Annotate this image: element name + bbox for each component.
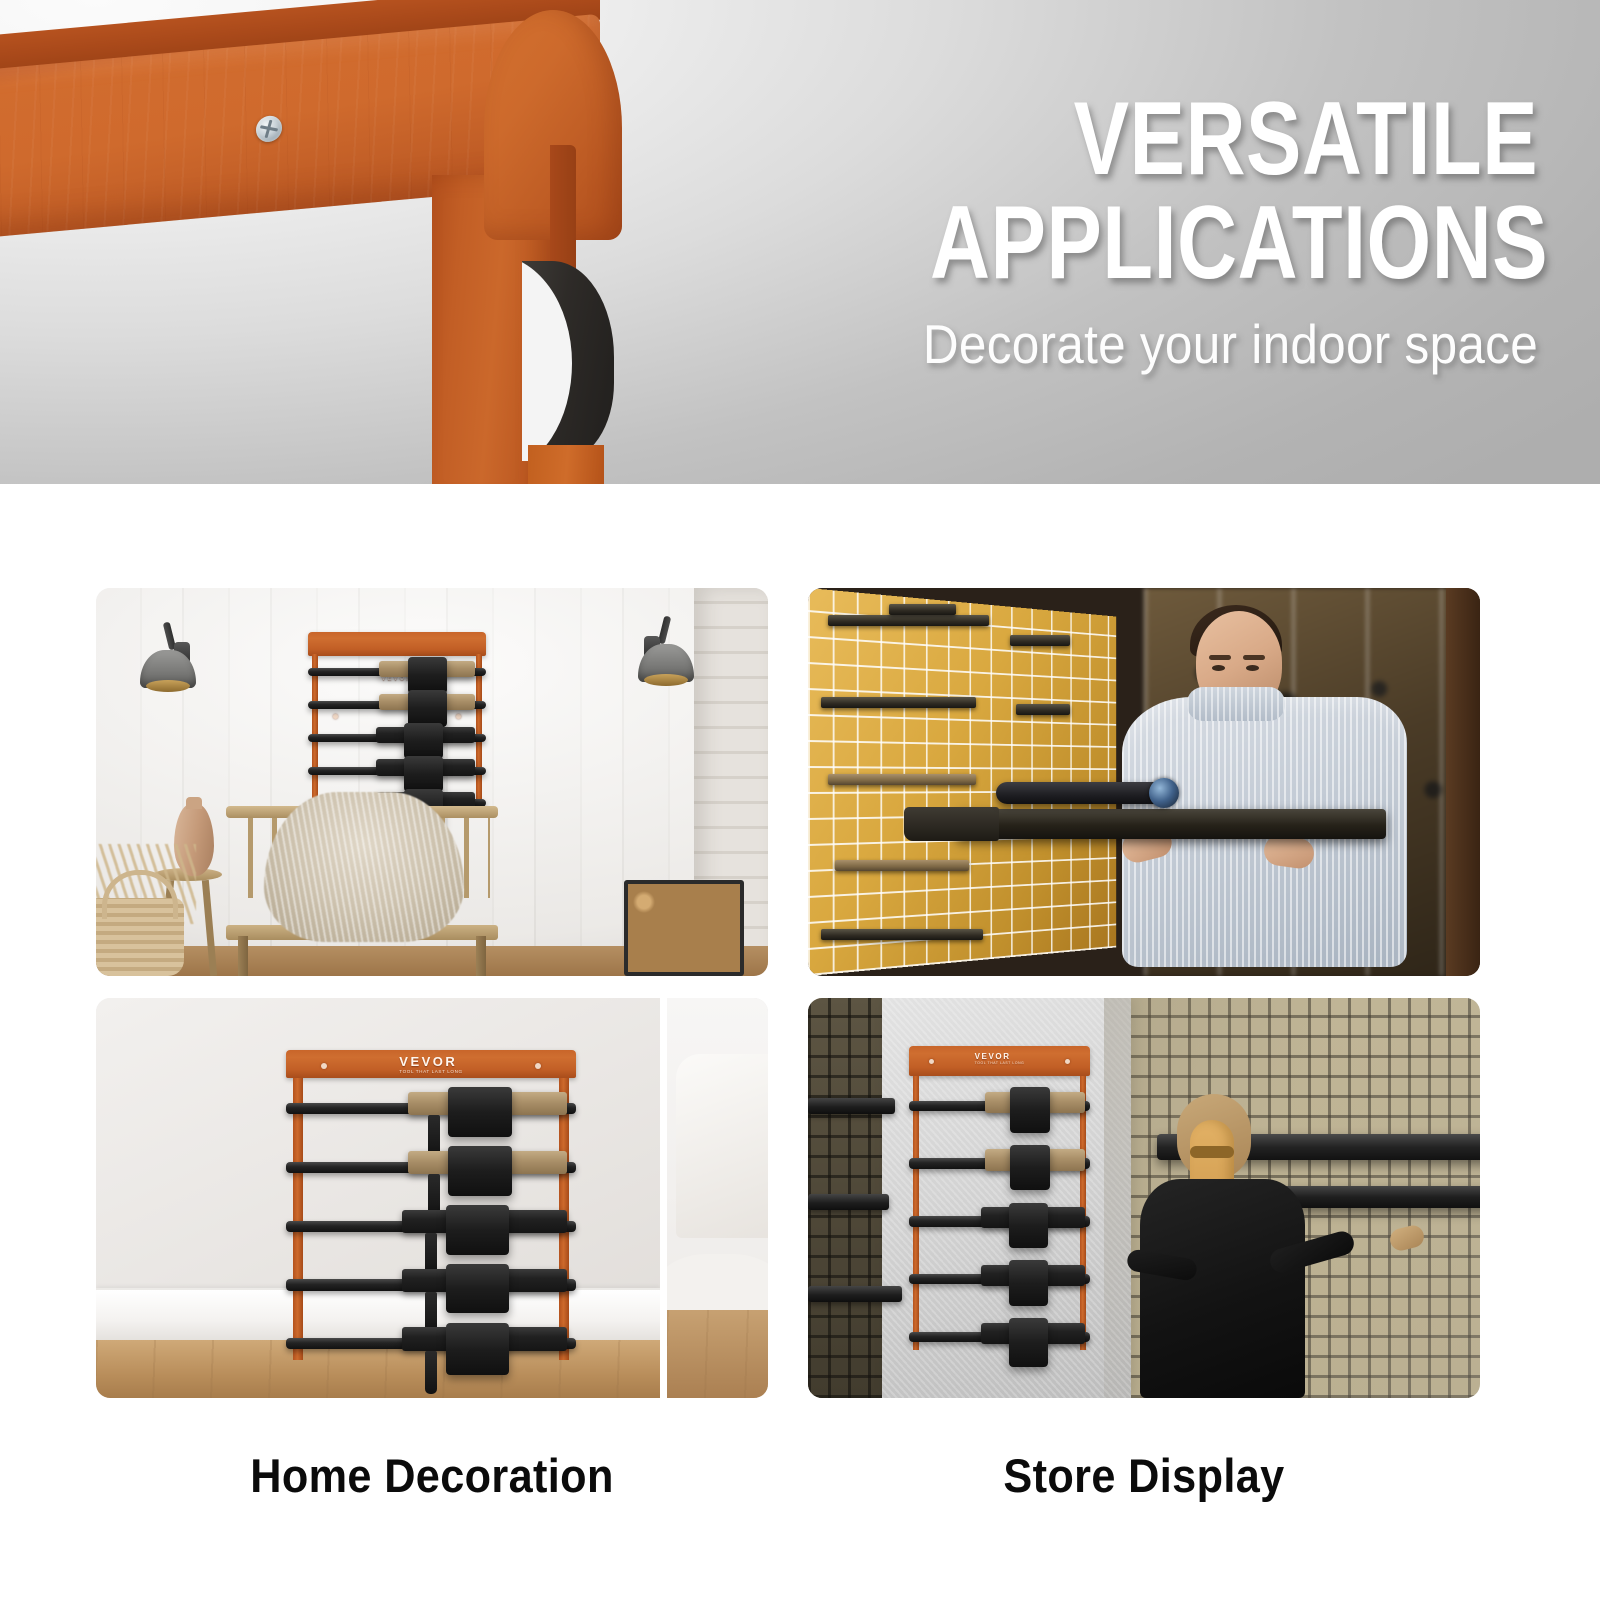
rack-side-post — [432, 175, 604, 484]
wall-rifle — [808, 1194, 889, 1210]
wall-sconce-left-icon — [140, 618, 196, 702]
rifle-receiver — [1009, 1260, 1049, 1306]
wall-rifle-tan — [835, 860, 969, 871]
store-pegboard-scene: VEVOR TOOL THAT LAST LONG — [808, 998, 1480, 1398]
headline-block: VERSATILE APPLICATIONS Decorate your ind… — [778, 90, 1538, 373]
wall-rifle — [828, 615, 989, 626]
post-foot — [528, 445, 604, 484]
gun-rack-5-tier: VEVOR TOOL THAT LAST LONG — [909, 1046, 1090, 1350]
turtleneck-collar — [1187, 687, 1285, 721]
held-rifle — [956, 809, 1386, 839]
caption-store-display: Store Display — [835, 1448, 1453, 1503]
bench-leg — [476, 936, 486, 976]
photo-store-display-man[interactable] — [808, 588, 1480, 976]
firewood-stack — [624, 880, 744, 976]
doorway-to-living-room — [660, 998, 768, 1398]
rack-screw-icon — [321, 1063, 327, 1069]
rack-post-left — [913, 1076, 919, 1350]
vevor-logo: VEVOR TOOL THAT LAST LONG — [399, 1054, 462, 1074]
rack-screw-icon — [456, 714, 461, 719]
wall-rifle — [821, 697, 976, 708]
wall-rifle — [808, 1286, 902, 1302]
headline-line-2: APPLICATIONS — [930, 194, 1538, 294]
headline-subtitle: Decorate your indoor space — [854, 316, 1538, 374]
rifle-receiver — [1009, 1203, 1049, 1249]
gun-store-scene — [808, 588, 1480, 976]
modern-interior-scene: VEVOR TOOL THAT LAST LONG — [96, 998, 768, 1398]
application-photo-grid: VEVOR — [96, 588, 1480, 1398]
rifle-receiver — [408, 657, 447, 693]
wall-rifle — [889, 604, 956, 615]
wall-rifle — [821, 929, 982, 940]
black-long-sleeve-top — [1140, 1179, 1304, 1398]
rifle-stock — [904, 807, 999, 841]
wall-pistol — [1010, 635, 1070, 646]
caption-row: Home Decoration Store Display — [96, 1448, 1480, 1518]
sconce-brass-interior — [146, 680, 190, 692]
eyebrow — [1243, 655, 1265, 660]
vevor-logo: VEVOR TOOL THAT LAST LONG — [975, 1052, 1025, 1065]
rifle-receiver — [446, 1264, 510, 1314]
gun-rack-5-tier: VEVOR — [308, 632, 486, 814]
rack-post-left — [293, 1078, 303, 1360]
foam-lined-cradle-notch — [522, 261, 630, 461]
rifle-receiver — [448, 1087, 512, 1137]
rifle-receiver — [1010, 1087, 1050, 1133]
rifle-receiver — [404, 723, 443, 759]
wicker-basket — [96, 898, 184, 976]
rifle-receiver — [446, 1205, 510, 1255]
fur-throw-blanket — [264, 792, 464, 942]
headline-line-1: VERSATILE — [930, 90, 1538, 190]
rack-top-rail — [308, 632, 486, 656]
woman-store-clerk — [1104, 1094, 1332, 1398]
wall-pistol — [1016, 704, 1070, 715]
rifle-receiver — [446, 1323, 510, 1376]
caption-home-decoration: Home Decoration — [123, 1448, 741, 1503]
wood-trim-column — [1446, 588, 1480, 976]
hair-tie — [1190, 1146, 1234, 1158]
bench-leg — [238, 936, 248, 976]
eyebrow — [1209, 655, 1231, 660]
rifle-receiver — [408, 690, 447, 726]
rifle-receiver — [1010, 1145, 1050, 1191]
floor-beyond-door — [667, 1310, 768, 1398]
photo-home-decoration-rustic[interactable]: VEVOR — [96, 588, 768, 976]
wall-rifle — [808, 1098, 895, 1114]
stool-leg — [202, 880, 217, 976]
white-sofa — [676, 1054, 768, 1238]
rifle-grip — [425, 1351, 437, 1394]
wall-sconce-right-icon — [638, 612, 694, 696]
hero-banner: VERSATILE APPLICATIONS Decorate your ind… — [0, 0, 1600, 484]
rifle-receiver — [404, 756, 443, 792]
rifle-scope — [996, 782, 1171, 804]
left-arm — [1126, 1248, 1199, 1282]
rustic-room-scene: VEVOR — [96, 588, 768, 976]
rifle-receiver — [1009, 1318, 1049, 1367]
rifle-receiver — [448, 1146, 512, 1196]
photo-store-display-woman[interactable]: VEVOR TOOL THAT LAST LONG — [808, 998, 1480, 1398]
rack-screw-icon — [333, 714, 338, 719]
gun-rack-5-tier: VEVOR TOOL THAT LAST LONG — [286, 1050, 576, 1360]
sconce-brass-interior — [644, 674, 688, 686]
product-closeup-illustration — [0, 0, 700, 484]
wall-rifle-tan — [828, 774, 976, 785]
photo-home-decoration-modern[interactable]: VEVOR TOOL THAT LAST LONG — [96, 998, 768, 1398]
